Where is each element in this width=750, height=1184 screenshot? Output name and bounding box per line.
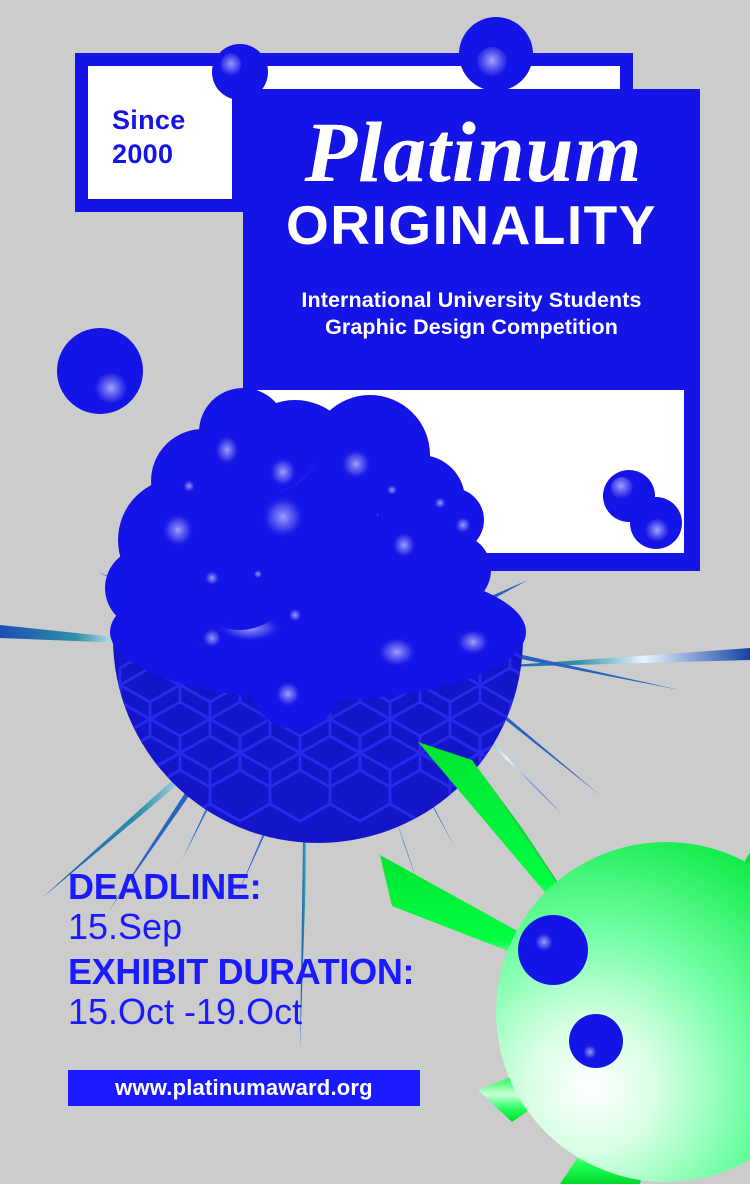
event-details: DEADLINE: 15.Sep EXHIBIT DURATION: 15.Oc…: [68, 868, 414, 1037]
exhibit-value: 15.Oct -19.Oct: [68, 991, 414, 1033]
exhibit-label: EXHIBIT DURATION:: [68, 953, 414, 991]
green-spiked-sphere: [380, 742, 750, 1184]
website-url-text: www.platinumaward.org: [115, 1075, 373, 1101]
poster-canvas: Since 2000 Platinum ORIGINALITY Internat…: [0, 0, 750, 1184]
deadline-value: 15.Sep: [68, 906, 414, 948]
deadline-label: DEADLINE:: [68, 868, 414, 906]
website-url-bar[interactable]: www.platinumaward.org: [68, 1070, 420, 1106]
